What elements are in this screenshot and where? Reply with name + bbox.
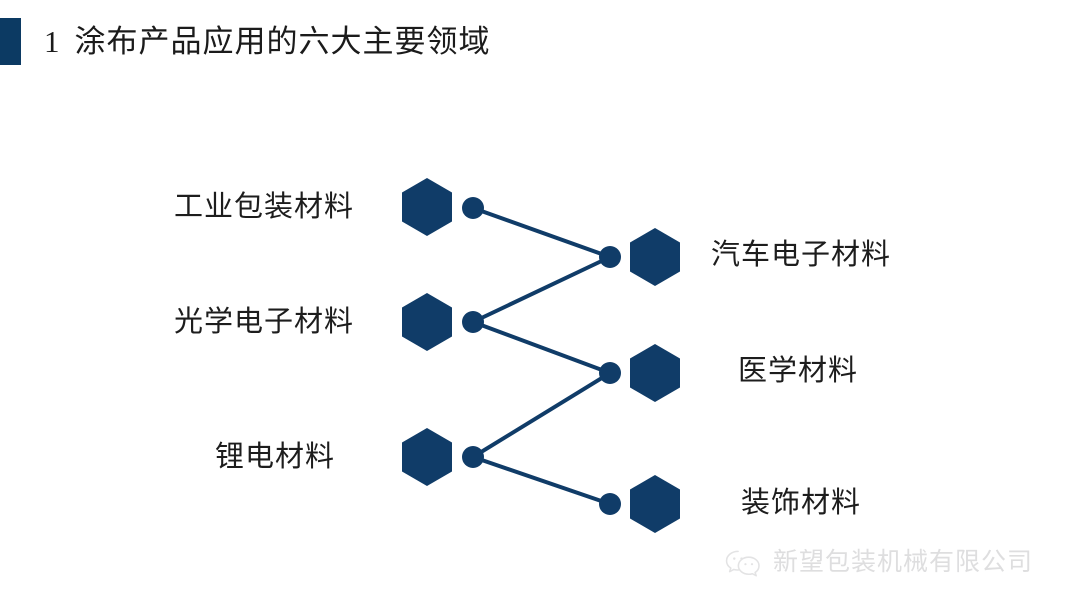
diagram-canvas bbox=[0, 0, 1080, 607]
dot-lithium-battery[interactable] bbox=[462, 446, 484, 468]
connector-lines bbox=[473, 208, 610, 504]
label-optical-electronic: 光学电子材料 bbox=[72, 305, 354, 339]
dot-medical[interactable] bbox=[599, 362, 621, 384]
hexagon-industrial-packaging[interactable] bbox=[402, 178, 452, 236]
link-optical-to-automotive bbox=[473, 257, 610, 322]
hexagon-lithium-battery[interactable] bbox=[402, 428, 452, 486]
hexagon-optical-electronic[interactable] bbox=[402, 293, 452, 351]
six-fields-diagram: 工业包装材料 光学电子材料 锂电材料 汽车电子材料 医学材料 装饰材料 bbox=[0, 0, 1080, 607]
dot-optical-electronic[interactable] bbox=[462, 311, 484, 333]
label-lithium-battery: 锂电材料 bbox=[72, 440, 335, 474]
right-hexagons bbox=[630, 228, 680, 533]
hexagon-medical[interactable] bbox=[630, 344, 680, 402]
label-medical: 医学材料 bbox=[738, 354, 858, 388]
label-industrial-packaging: 工业包装材料 bbox=[72, 190, 354, 224]
watermark-text: 新望包装机械有限公司 bbox=[773, 546, 1033, 580]
link-optical-to-medical bbox=[473, 322, 610, 373]
dot-industrial-packaging[interactable] bbox=[462, 197, 484, 219]
link-industrial-to-automotive bbox=[473, 208, 610, 257]
dot-automotive-electronic[interactable] bbox=[599, 246, 621, 268]
dot-decorative[interactable] bbox=[599, 493, 621, 515]
left-hexagons bbox=[402, 178, 452, 486]
label-decorative: 装饰材料 bbox=[741, 486, 861, 520]
watermark: 新望包装机械有限公司 bbox=[724, 544, 1033, 582]
label-automotive-electronic: 汽车电子材料 bbox=[711, 238, 891, 272]
hexagon-automotive-electronic[interactable] bbox=[630, 228, 680, 286]
connector-dots bbox=[462, 197, 621, 515]
hexagon-decorative[interactable] bbox=[630, 475, 680, 533]
wechat-icon bbox=[724, 548, 764, 578]
link-battery-to-medical bbox=[473, 373, 610, 457]
link-battery-to-decorative bbox=[473, 457, 610, 504]
